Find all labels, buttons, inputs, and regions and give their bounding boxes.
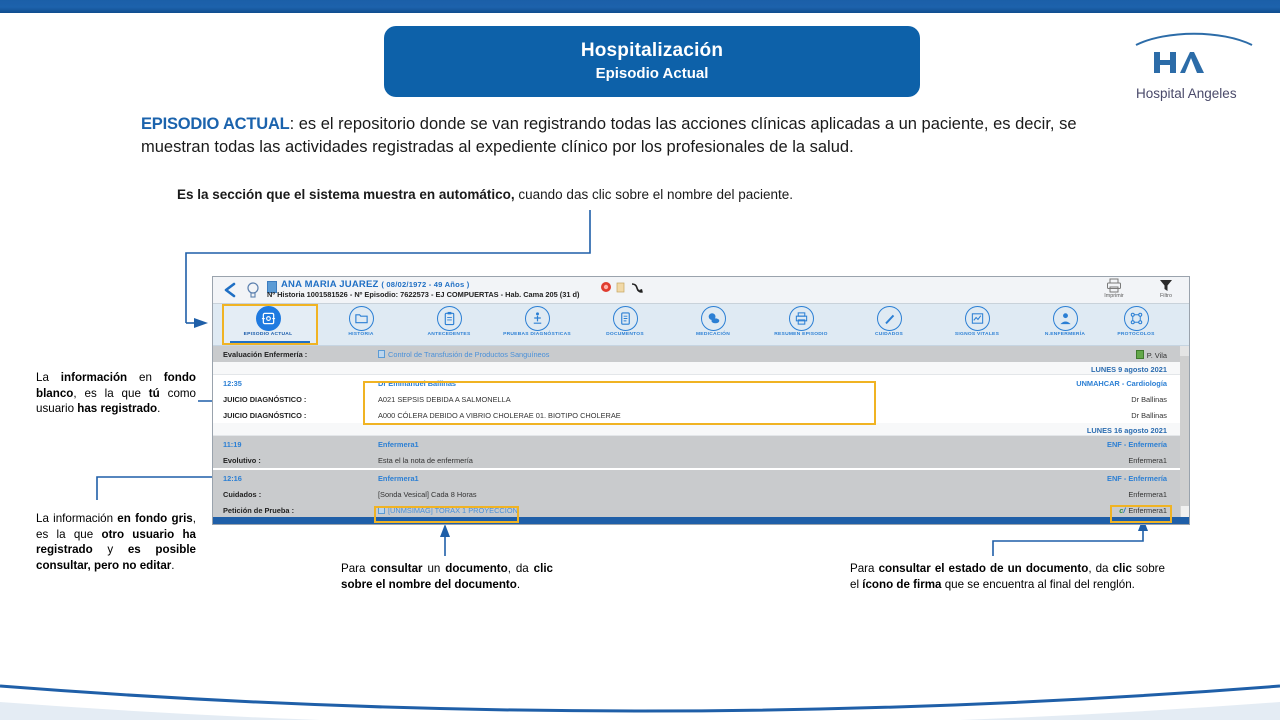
document-icon <box>378 350 385 358</box>
alert-icon <box>617 283 624 292</box>
filter-tool-label: Filtro <box>1160 293 1172 299</box>
episode-icon <box>256 306 281 331</box>
nav-item-antecedentes[interactable]: ANTECEDENTES <box>406 306 492 337</box>
table-row-4[interactable]: 11:19 Enfermera1 ENF - Enfermería <box>213 436 1189 452</box>
page-title: Hospitalización <box>581 39 723 63</box>
nav-item-documentos[interactable]: DOCUMENTOS <box>582 306 668 337</box>
row-label: Evolutivo : <box>223 456 261 465</box>
row-label: Petición de Prueba : <box>223 506 294 515</box>
table-row-7[interactable]: Cuidados : [Sonda Vesical] Cada 8 Horas … <box>213 486 1189 502</box>
hospital-angeles-logo: Hospital Angeles <box>1130 28 1258 90</box>
nav-label: DOCUMENTOS <box>582 332 668 337</box>
page-subtitle: Episodio Actual <box>596 63 709 85</box>
clipboard-icon <box>437 306 462 331</box>
module-navbar: EPISODIO ACTUAL HISTORIA ANTECEDENTES PR… <box>213 304 1189 346</box>
row-author-text: P. Vila <box>1147 351 1167 360</box>
intro-lead: EPISODIO ACTUAL <box>141 115 290 133</box>
row-service: ENF - Enfermería <box>1107 474 1167 483</box>
filter-icon <box>1149 278 1183 293</box>
chart-icon <box>965 306 990 331</box>
episode-content: Evaluación Enfermería : Control de Trans… <box>213 346 1189 525</box>
row-label: Evaluación Enfermería : <box>223 350 307 359</box>
row-value-link[interactable]: [UNMSIMAG] TORAX 1 PROYECCION <box>388 506 518 515</box>
patient-subline: Nº Historia 1001581526 - Nº Episodio: 76… <box>267 290 580 299</box>
back-arrow-icon[interactable] <box>221 281 239 299</box>
table-row-1[interactable]: 12:35 Dr Emmanuel Ballinas UNMAHCAR - Ca… <box>213 375 1189 391</box>
row-service: ENF - Enfermería <box>1107 440 1167 449</box>
annotation-open-document: Para consultar un documento, da clic sob… <box>341 561 553 592</box>
row-label: JUICIO DIAGNÓSTICO : <box>223 411 306 420</box>
printer-icon <box>1097 278 1131 293</box>
nav-label: PRUEBAS DIAGNÓSTICAS <box>494 332 580 337</box>
intro-note: Es la sección que el sistema muestra en … <box>177 186 1077 204</box>
signature-icon[interactable]: c/ <box>1119 506 1125 515</box>
table-row-evaluacion[interactable]: Evaluación Enfermería : Control de Trans… <box>213 346 1189 362</box>
page-title-pill: Hospitalización Episodio Actual <box>384 26 920 97</box>
row-label: Cuidados : <box>223 490 261 499</box>
annotation-white-background: La información en fondo blanco, es la qu… <box>36 370 196 417</box>
app-screenshot: ANA MARIA JUAREZ ( 08/02/1972 - 49 Años … <box>212 276 1190 525</box>
pills-icon <box>701 306 726 331</box>
nav-label: PROTOCOLOS <box>1093 332 1179 337</box>
row-value: [Sonda Vesical] Cada 8 Horas <box>378 490 477 499</box>
nav-label: ANTECEDENTES <box>406 332 492 337</box>
app-tools: Imprimir Filtro <box>1097 278 1183 299</box>
day-label: LUNES 16 agosto 2021 <box>1087 426 1167 435</box>
top-blue-band <box>0 0 1280 13</box>
folder-icon <box>349 306 374 331</box>
logo-icon <box>1130 28 1258 90</box>
nav-item-pruebas-diagnosticas[interactable]: PRUEBAS DIAGNÓSTICAS <box>494 306 580 337</box>
pencil-icon <box>877 306 902 331</box>
row-service: UNMAHCAR - Cardiología <box>1076 379 1167 388</box>
intro-note-rest: cuando das clic sobre el nombre del paci… <box>515 187 793 202</box>
table-row-5[interactable]: Evolutivo : Esta el la nota de enfermerí… <box>213 452 1189 468</box>
nav-label: EPISODIO ACTUAL <box>225 332 311 337</box>
patient-status-icons <box>598 281 658 295</box>
annotation-signature-status: Para consultar el estado de un documento… <box>850 561 1165 592</box>
active-tab-underline <box>230 341 310 343</box>
row-author: Enfermera1 <box>1128 456 1167 465</box>
content-scrollbar[interactable] <box>1180 346 1189 525</box>
row-label: JUICIO DIAGNÓSTICO : <box>223 395 306 404</box>
app-footer-bar <box>213 517 1190 524</box>
intro-note-bold: Es la sección que el sistema muestra en … <box>177 187 515 202</box>
table-row-2[interactable]: JUICIO DIAGNÓSTICO : A021 SEPSIS DEBIDA … <box>213 391 1189 407</box>
annotation-grey-background: La información en fondo gris, es la que … <box>36 511 196 573</box>
nav-item-signos-vitales[interactable]: SIGNOS VITALES <box>934 306 1020 337</box>
row-author[interactable]: P. Vila <box>1136 350 1167 360</box>
row-time: 11:19 <box>223 440 242 449</box>
row-value: A021 SEPSIS DEBIDA A SALMONELLA <box>378 395 511 404</box>
bottom-swoosh <box>0 650 1280 720</box>
printer-report-icon <box>789 306 814 331</box>
print-tool[interactable]: Imprimir <box>1097 278 1131 299</box>
row-time: 12:16 <box>223 474 242 483</box>
nurse-icon <box>1053 306 1078 331</box>
document-icon <box>378 506 385 514</box>
nav-label: MEDICACIÓN <box>670 332 756 337</box>
patient-name-text: ANA MARIA JUAREZ <box>281 279 379 290</box>
row-value[interactable]: [UNMSIMAG] TORAX 1 PROYECCION <box>378 506 518 515</box>
nav-item-episodio-actual[interactable]: EPISODIO ACTUAL <box>225 306 311 337</box>
nav-label: HISTORIA <box>318 332 404 337</box>
print-tool-label: Imprimir <box>1104 293 1123 299</box>
nav-label: SIGNOS VITALES <box>934 332 1020 337</box>
microscope-icon <box>525 306 550 331</box>
nav-label: RESUMEN EPISODIO <box>758 332 844 337</box>
nav-label: CUIDADOS <box>846 332 932 337</box>
row-author: Dr Ballinas <box>1131 411 1167 420</box>
day-separator-2: LUNES 16 agosto 2021 <box>213 423 1189 436</box>
lightbulb-icon[interactable] <box>245 281 261 299</box>
patient-name: ANA MARIA JUAREZ ( 08/02/1972 - 49 Años … <box>281 279 469 290</box>
row-value: A000 CÓLERA DEBIDO A VIBRIO CHOLERAE 01.… <box>378 411 621 420</box>
row-value: Esta el la nota de enfermería <box>378 456 473 465</box>
signature-icon <box>1136 350 1144 359</box>
logo-text: Hospital Angeles <box>1136 86 1258 101</box>
scroll-up-button[interactable] <box>1180 346 1189 356</box>
nav-item-protocolos[interactable]: PROTOCOLOS <box>1093 306 1179 337</box>
table-row-8[interactable]: Petición de Prueba : [UNMSIMAG] TORAX 1 … <box>213 502 1189 518</box>
table-row-3[interactable]: JUICIO DIAGNÓSTICO : A000 CÓLERA DEBIDO … <box>213 407 1189 423</box>
nav-item-resumen-episodio[interactable]: RESUMEN EPISODIO <box>758 306 844 337</box>
row-value-link[interactable]: Control de Transfusión de Productos Sang… <box>388 350 549 359</box>
protocol-icon <box>1124 306 1149 331</box>
nav-item-medicacion[interactable]: MEDICACIÓN <box>670 306 756 337</box>
nav-item-historia[interactable]: HISTORIA <box>318 306 404 337</box>
day-separator-1: LUNES 9 agosto 2021 <box>213 362 1189 375</box>
row-value[interactable]: Control de Transfusión de Productos Sang… <box>378 350 549 359</box>
scroll-thumb[interactable] <box>1180 356 1189 506</box>
filter-tool[interactable]: Filtro <box>1149 278 1183 299</box>
row-value: Enfermera1 <box>378 474 419 483</box>
nav-item-cuidados[interactable]: CUIDADOS <box>846 306 932 337</box>
row-time: 12:35 <box>223 379 242 388</box>
day-label: LUNES 9 agosto 2021 <box>1091 365 1167 374</box>
patient-header: ANA MARIA JUAREZ ( 08/02/1972 - 49 Años … <box>213 277 1189 304</box>
row-signature[interactable]: c/Enfermera1 <box>1119 506 1167 515</box>
patient-dob-age: ( 08/02/1972 - 49 Años ) <box>381 280 469 289</box>
row-value: Enfermera1 <box>378 440 419 449</box>
row-author: Dr Ballinas <box>1131 395 1167 404</box>
document-icon <box>613 306 638 331</box>
intro-paragraph: EPISODIO ACTUAL: es el repositorio donde… <box>141 113 1136 159</box>
row-author-text: Enfermera1 <box>1128 506 1167 515</box>
table-row-6[interactable]: 12:16 Enfermera1 ENF - Enfermería <box>213 470 1189 486</box>
row-value: Dr Emmanuel Ballinas <box>378 379 456 388</box>
row-author: Enfermera1 <box>1128 490 1167 499</box>
